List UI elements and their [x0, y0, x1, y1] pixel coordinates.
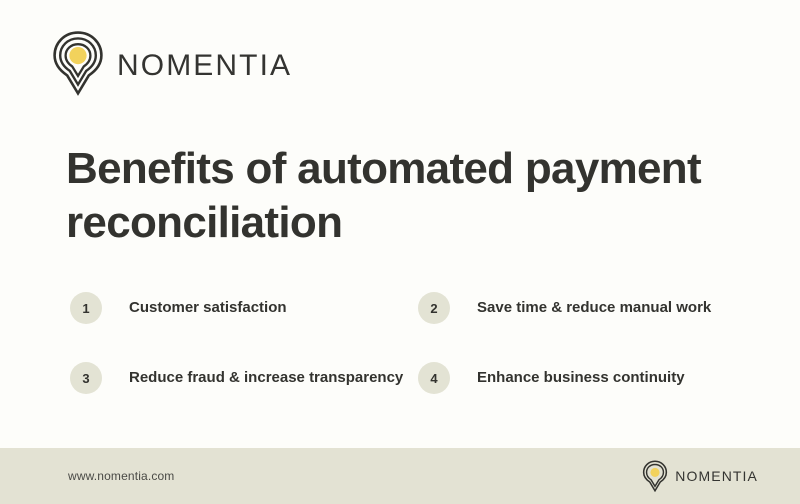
benefit-number-badge: 2: [418, 292, 450, 324]
footer-website-url[interactable]: www.nomentia.com: [68, 469, 174, 483]
benefit-item: 3 Reduce fraud & increase transparency: [70, 362, 418, 394]
nomentia-pin-logo-icon: [52, 30, 104, 101]
benefit-item: 4 Enhance business continuity: [418, 362, 750, 394]
slide-canvas: NOMENTIA Benefits of automated payment r…: [0, 0, 800, 504]
benefit-item: 2 Save time & reduce manual work: [418, 292, 750, 324]
benefits-grid: 1 Customer satisfaction 2 Save time & re…: [70, 292, 750, 394]
benefit-number-badge: 4: [418, 362, 450, 394]
benefit-label: Enhance business continuity: [477, 362, 750, 388]
header-wordmark: NOMENTIA: [117, 51, 292, 81]
footer-brand-lockup: NOMENTIA: [642, 460, 758, 492]
footer-wordmark: NOMENTIA: [675, 469, 758, 483]
benefit-item: 1 Customer satisfaction: [70, 292, 418, 324]
benefit-label: Customer satisfaction: [129, 292, 418, 318]
benefit-number-badge: 3: [70, 362, 102, 394]
nomentia-pin-logo-icon: [642, 460, 668, 492]
header-brand-lockup: NOMENTIA: [52, 30, 292, 101]
benefit-number-badge: 1: [70, 292, 102, 324]
page-title: Benefits of automated payment reconcilia…: [66, 142, 716, 250]
benefit-label: Reduce fraud & increase transparency: [129, 362, 418, 388]
footer-bar: www.nomentia.com NOMENTIA: [0, 448, 800, 504]
benefit-label: Save time & reduce manual work: [477, 292, 750, 318]
